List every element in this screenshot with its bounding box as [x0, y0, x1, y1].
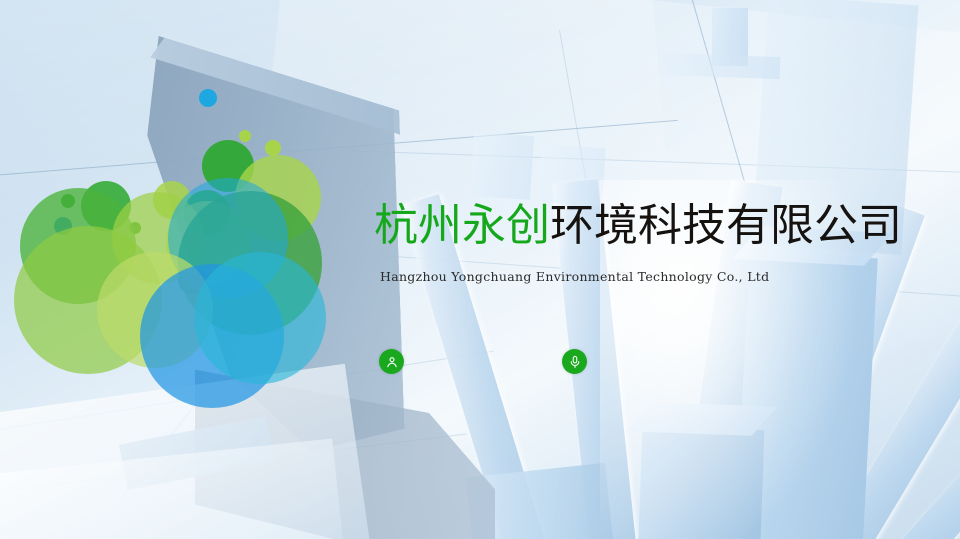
logo-bubble: [239, 130, 251, 142]
title-highlight: 杭州永创: [374, 200, 550, 251]
logo-bubble: [199, 89, 217, 107]
bar-step-b: [538, 144, 606, 206]
title-block: 杭州永创环境科技有限公司 Hangzhou Yongchuang Environ…: [374, 203, 902, 284]
bubble-cluster-logo: [60, 88, 360, 418]
microphone-icon: [568, 355, 582, 369]
bar-small-top-b: [660, 53, 781, 79]
presentation-slide: 杭州永创环境科技有限公司 Hangzhou Yongchuang Environ…: [0, 0, 960, 539]
title-rest: 环境科技有限公司: [550, 200, 902, 251]
bar-step-a: [470, 132, 534, 200]
user-badge[interactable]: [379, 349, 404, 374]
subtitle: Hangzhou Yongchuang Environmental Techno…: [380, 269, 902, 284]
microphone-badge[interactable]: [562, 349, 587, 374]
person-icon: [385, 355, 399, 369]
page-title: 杭州永创环境科技有限公司: [374, 203, 902, 249]
logo-bubble: [265, 140, 281, 156]
logo-bubble: [194, 252, 326, 384]
